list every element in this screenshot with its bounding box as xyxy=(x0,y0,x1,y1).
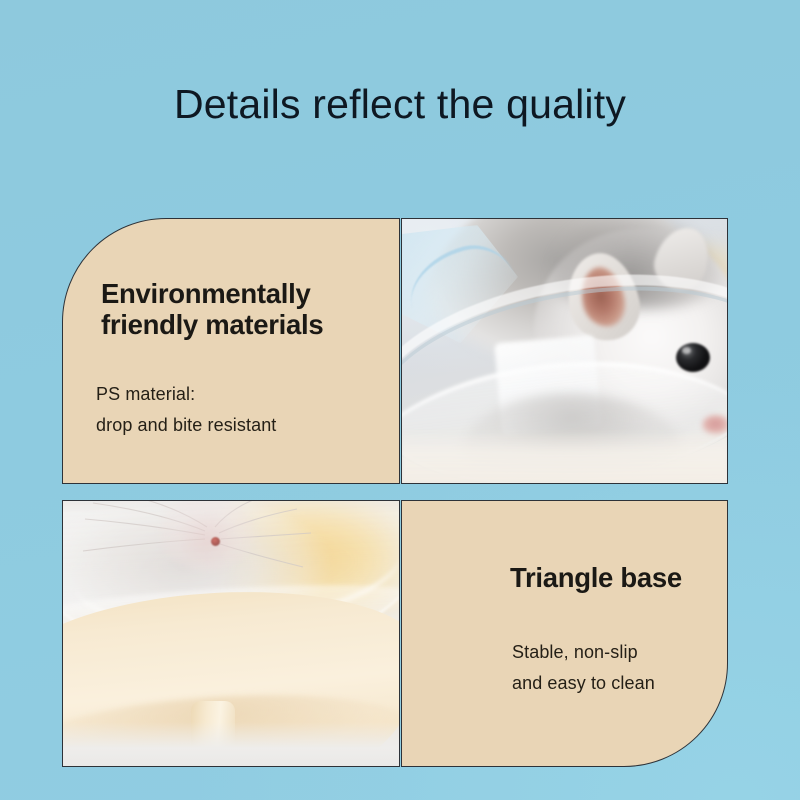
subtext-line-1: Stable, non-slip xyxy=(512,637,655,668)
heading-line-2: friendly materials xyxy=(101,309,323,340)
subtext-line-2: drop and bite resistant xyxy=(96,410,276,441)
page-background: Details reflect the quality Environmenta… xyxy=(0,0,800,800)
panel-subtext-materials: PS material: drop and bite resistant xyxy=(96,379,276,441)
panel-triangle-base: Triangle base Stable, non-slip and easy … xyxy=(401,500,728,767)
panel-heading-materials: Environmentally friendly materials xyxy=(101,278,323,341)
photo-table-surface xyxy=(63,722,399,766)
saucer-side-photo xyxy=(63,501,399,766)
panel-hamster-saucer-side xyxy=(62,500,400,767)
page-title: Details reflect the quality xyxy=(0,84,800,125)
hamster-closeup-photo xyxy=(402,219,727,483)
heading-line-1: Triangle base xyxy=(510,562,682,593)
panel-environmentally-friendly-materials: Environmentally friendly materials PS ma… xyxy=(62,218,400,484)
panel-hamster-saucer-closeup xyxy=(401,218,728,484)
photo-floor-gradient xyxy=(402,429,727,483)
panel-heading-triangle-base: Triangle base xyxy=(510,562,682,593)
subtext-line-1: PS material: xyxy=(96,379,276,410)
panel-subtext-triangle-base: Stable, non-slip and easy to clean xyxy=(512,637,655,699)
heading-line-1: Environmentally xyxy=(101,278,323,309)
subtext-line-2: and easy to clean xyxy=(512,668,655,699)
feature-panel-grid: Environmentally friendly materials PS ma… xyxy=(62,218,728,767)
